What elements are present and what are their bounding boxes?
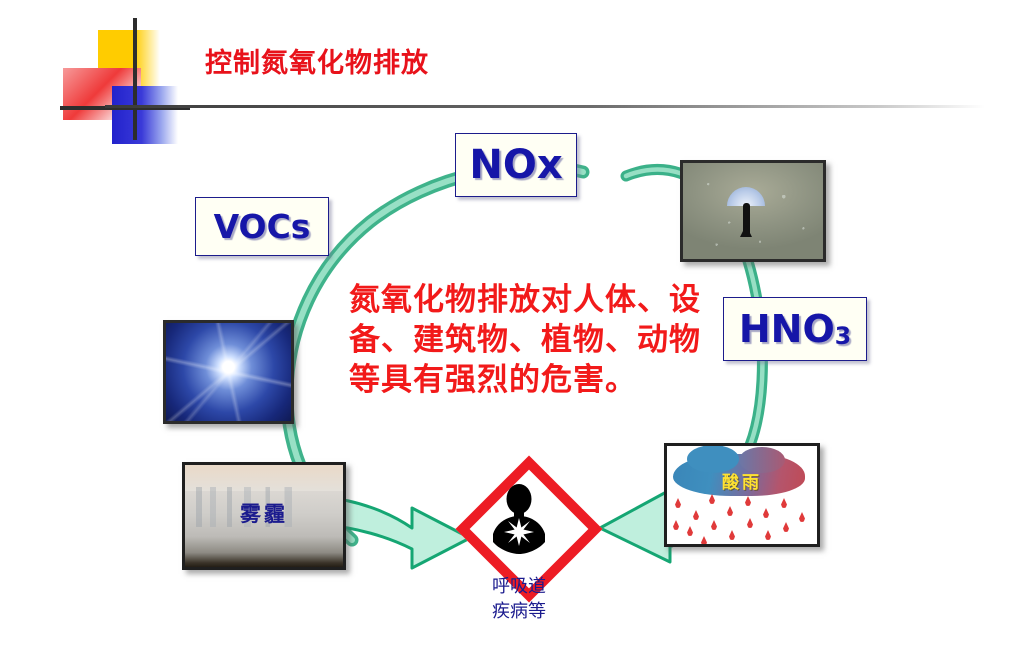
photo-sun-background (166, 323, 291, 421)
label-nox-text: NOx (469, 142, 562, 188)
label-hno3-text: HNO (739, 307, 835, 351)
slide-canvas: 控制氮氧化物排放 NOx VOCs HNO3 (0, 0, 1014, 660)
logo-vertical-line (133, 18, 137, 140)
photo-smog: 雾霾 (182, 462, 346, 570)
label-hno3-subscript: 3 (835, 322, 851, 350)
person-silhouette (743, 203, 750, 237)
photo-rain-umbrella (680, 160, 826, 262)
smog-caption: 雾霾 (185, 498, 343, 528)
acid-rain-caption: 酸雨 (667, 468, 817, 493)
photo-sunlight (163, 320, 294, 424)
hazard-caption-line1: 呼吸道 (428, 574, 610, 599)
acid-rain-droplets (667, 492, 817, 544)
label-nox[interactable]: NOx (455, 133, 577, 197)
sun-rays (166, 323, 291, 421)
hazard-caption: 呼吸道 疾病等 (428, 574, 610, 624)
logo-blue-square (112, 86, 178, 144)
rain-droplets (683, 163, 823, 259)
hazard-torso-glyph (466, 466, 572, 572)
ghs-health-hazard-icon (466, 466, 572, 572)
photo-smog-background: 雾霾 (185, 465, 343, 567)
label-vocs[interactable]: VOCs (195, 197, 329, 256)
photo-acid-rain: 酸雨 (664, 443, 820, 547)
hazard-caption-line2: 疾病等 (428, 599, 610, 624)
label-vocs-text: VOCs (214, 207, 311, 246)
page-title: 控制氮氧化物排放 (205, 41, 429, 80)
warning-paragraph: 氮氧化物排放对人体、设备、建筑物、植物、动物等具有强烈的危害。 (349, 280, 701, 400)
label-hno3[interactable]: HNO3 (723, 297, 867, 361)
title-underline-rule (105, 105, 985, 108)
photo-rain-background (683, 163, 823, 259)
decorative-corner-logo (60, 18, 190, 140)
